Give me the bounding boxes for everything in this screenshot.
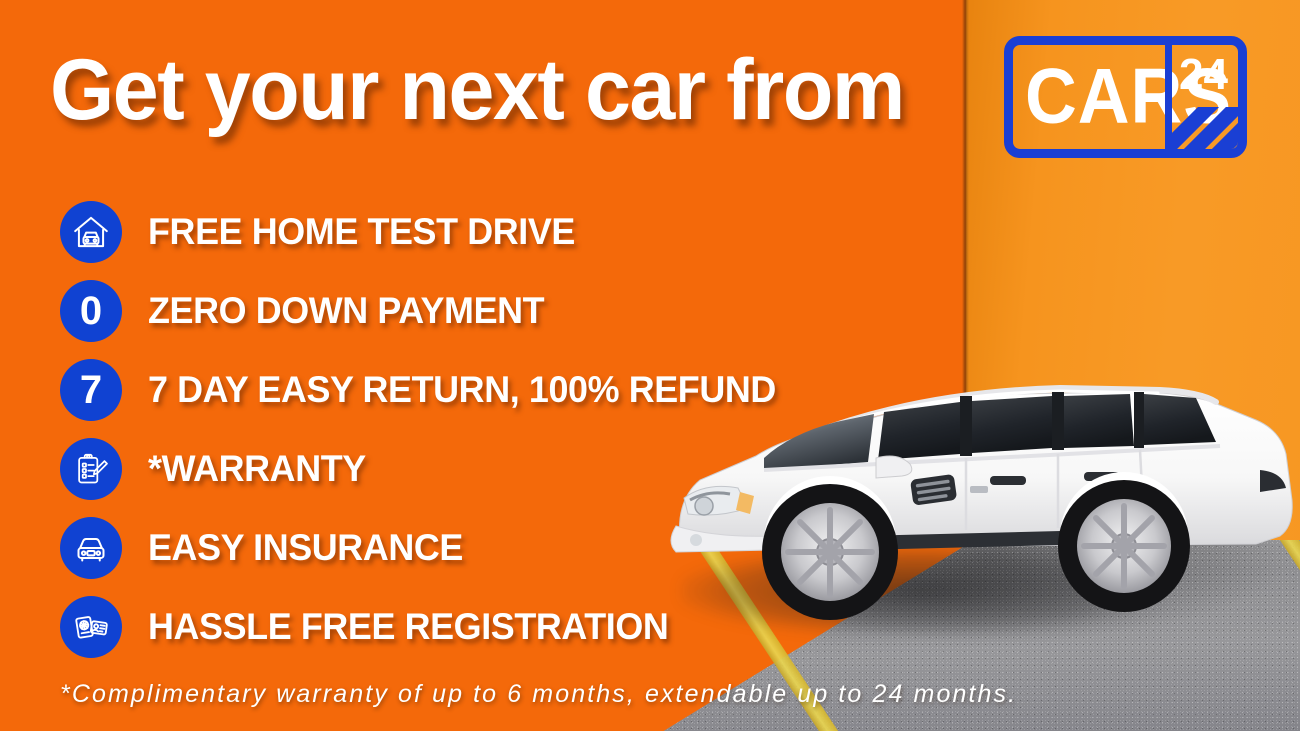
home-car-icon: [60, 201, 122, 263]
logo-diagonal-stripes: [1172, 107, 1238, 149]
feature-item-warranty[interactable]: *WARRANTY: [60, 429, 820, 508]
feature-item-seven-day-return[interactable]: 7 7 DAY EASY RETURN, 100% REFUND: [60, 350, 820, 429]
feature-label: ZERO DOWN PAYMENT: [148, 290, 544, 332]
logo-inner: CARS 24: [1013, 45, 1238, 149]
documents-icon: [60, 596, 122, 658]
page-title: Get your next car from: [50, 47, 904, 133]
disclaimer-text: *Complimentary warranty of up to 6 month…: [60, 680, 1017, 709]
feature-item-hassle-free-registration[interactable]: HASSLE FREE REGISTRATION: [60, 587, 820, 666]
cars24-logo[interactable]: CARS 24: [1004, 36, 1247, 158]
cars24-promo-banner: Get your next car from CARS 24: [0, 0, 1300, 731]
zero-digit-icon: 0: [60, 280, 122, 342]
badge-number: 7: [80, 370, 102, 410]
seven-digit-icon: 7: [60, 359, 122, 421]
logo-divider: [1165, 45, 1172, 149]
feature-item-easy-insurance[interactable]: EASY INSURANCE: [60, 508, 820, 587]
feature-label: EASY INSURANCE: [148, 527, 463, 569]
feature-list: FREE HOME TEST DRIVE 0 ZERO DOWN PAYMENT…: [60, 192, 820, 666]
feature-label: HASSLE FREE REGISTRATION: [148, 606, 668, 648]
car-front-icon: [60, 517, 122, 579]
badge-number: 0: [80, 291, 102, 331]
clipboard-pen-icon: [60, 438, 122, 500]
feature-label: FREE HOME TEST DRIVE: [148, 211, 575, 253]
feature-label: 7 DAY EASY RETURN, 100% REFUND: [148, 369, 776, 411]
logo-number: 24: [1179, 53, 1228, 97]
feature-item-zero-down-payment[interactable]: 0 ZERO DOWN PAYMENT: [60, 271, 820, 350]
feature-label: *WARRANTY: [148, 448, 366, 490]
feature-item-free-home-test-drive[interactable]: FREE HOME TEST DRIVE: [60, 192, 820, 271]
